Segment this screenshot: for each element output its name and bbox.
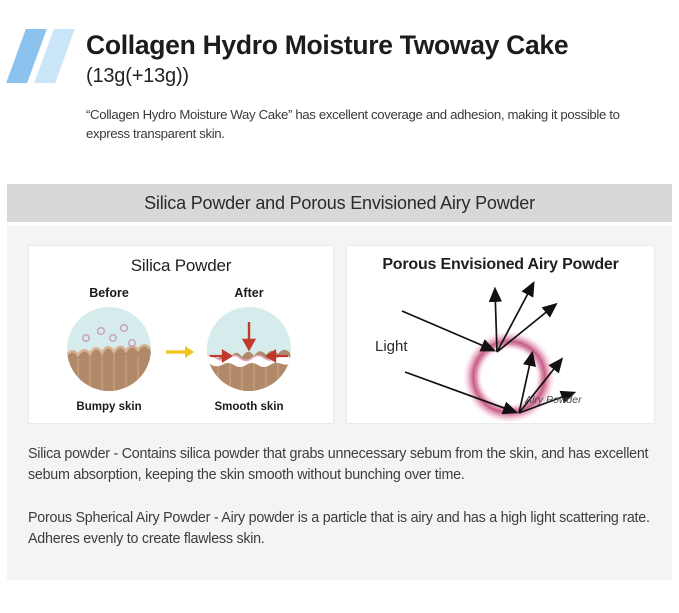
illustration-panels: Silica Powder Before <box>28 245 655 424</box>
paragraph-airy: Porous Spherical Airy Powder - Airy powd… <box>28 508 656 550</box>
section-header-band: Silica Powder and Porous Envisioned Airy… <box>7 184 672 222</box>
page-description: “Collagen Hydro Moisture Way Cake” has e… <box>86 105 662 143</box>
page-title: Collagen Hydro Moisture Twoway Cake <box>86 31 568 60</box>
smooth-skin-illustration-icon <box>204 304 294 394</box>
bumpy-skin-illustration-icon <box>64 304 154 394</box>
page-subtitle: (13g(+13g)) <box>86 65 189 88</box>
label-airy-powder: Airy Powder <box>525 394 582 406</box>
body-copy: Silica powder - Contains silica powder t… <box>28 444 656 551</box>
silica-before-column: Before <box>49 246 169 424</box>
silica-after-label: After <box>189 286 309 300</box>
title-block: Collagen Hydro Moisture Twoway Cake (13g… <box>0 0 679 178</box>
paragraph-silica: Silica powder - Contains silica powder t… <box>28 444 656 486</box>
brand-slash-logo-icon <box>10 29 76 83</box>
label-light: Light <box>375 338 408 355</box>
panel-silica-powder: Silica Powder Before <box>28 245 334 424</box>
silica-before-caption: Bumpy skin <box>49 401 169 413</box>
silica-before-label: Before <box>49 286 169 300</box>
section-header-title: Silica Powder and Porous Envisioned Airy… <box>144 193 535 214</box>
section-content-area: Silica Powder Before <box>7 226 672 580</box>
silica-after-caption: Smooth skin <box>189 401 309 413</box>
panel-airy-powder: Porous Envisioned Airy Powder <box>346 245 655 424</box>
silica-after-column: After <box>189 246 309 424</box>
